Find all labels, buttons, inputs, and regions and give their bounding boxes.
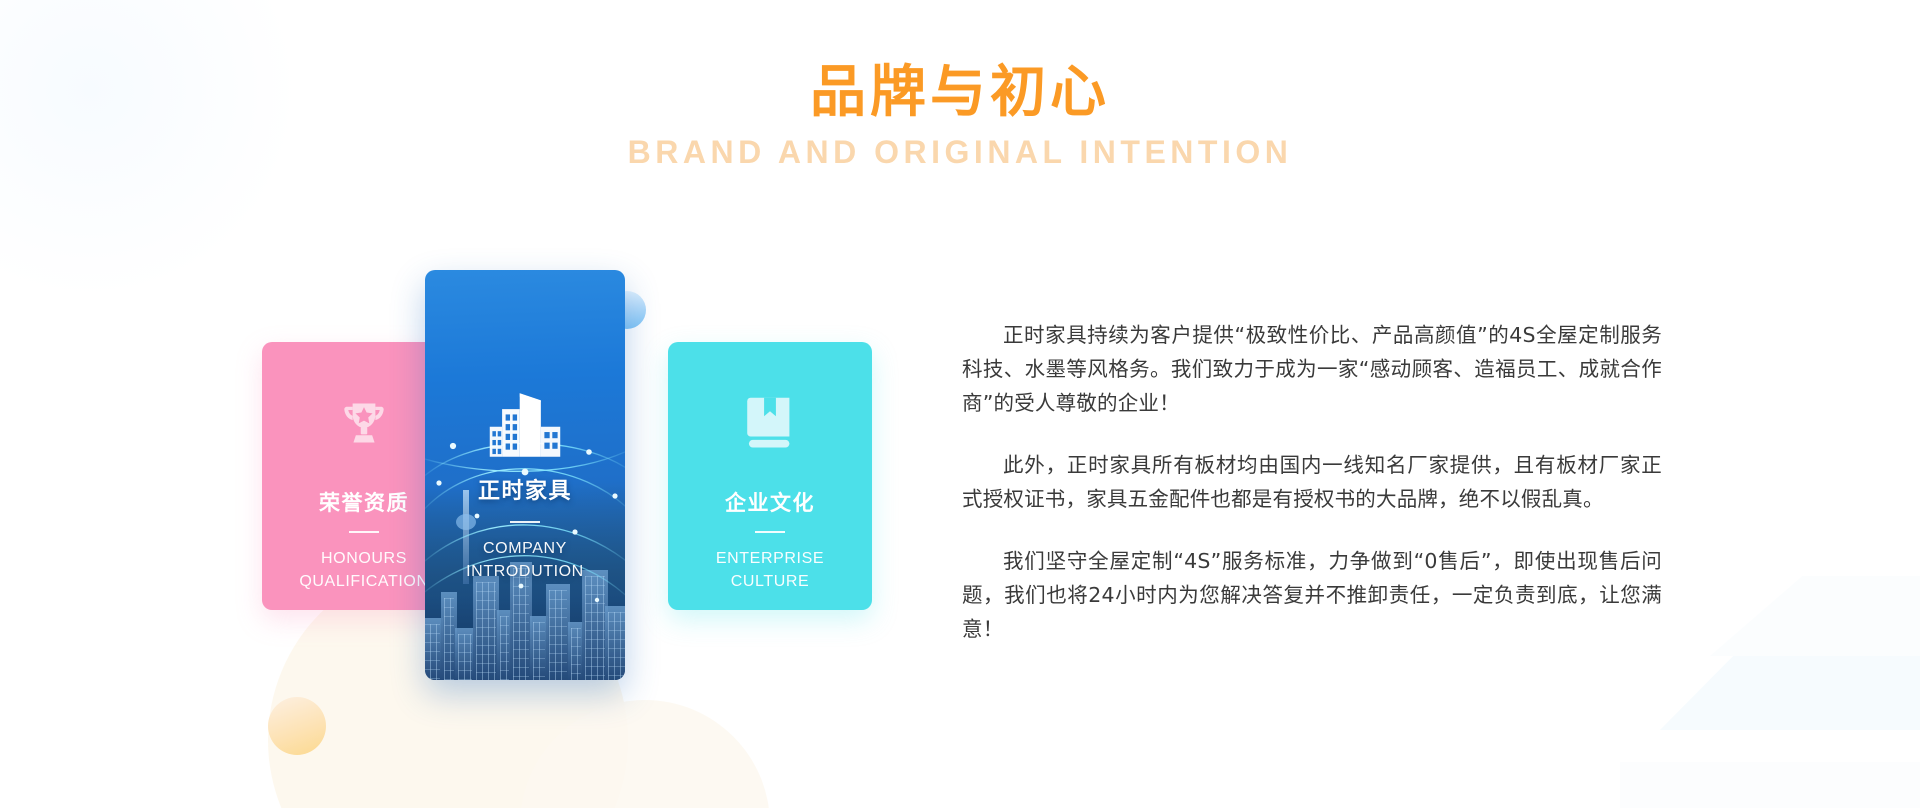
card-company-introduction[interactable]: 正时家具 COMPANYINTRODUTION [425,270,625,680]
card-title-cn: 荣誉资质 [319,490,409,517]
card-title-en: ENTERPRISECULTURE [716,547,824,593]
trophy-icon [327,386,401,460]
card-title-en-line1: ENTERPRISE [716,550,824,567]
section-heading: 品牌与初心 BRAND AND ORIGINAL INTENTION [0,62,1920,171]
book-icon [733,386,807,460]
card-title-en-line2: QUALIFICATION [299,573,428,590]
card-divider [349,531,379,533]
feature-card-group: 荣誉资质 HONOURSQUALIFICATION [262,270,872,700]
card-title-en: COMPANYINTRODUTION [466,537,584,583]
card-divider [755,531,785,533]
card-enterprise-culture[interactable]: 企业文化 ENTERPRISECULTURE [668,342,872,610]
page-title: 品牌与初心 [0,62,1920,125]
card-title-en-line2: CULTURE [731,573,810,590]
paragraph-2: 此外，正时家具所有板材均由国内一线知名厂家提供，且有板材厂家正式授权证书，家具五… [962,448,1662,516]
card-title-cn: 正时家具 [478,478,572,507]
paragraph-3: 我们坚守全屋定制“4S”服务标准，力争做到“0售后”，即使出现售后问题，我们也将… [962,544,1662,646]
card-title-en: HONOURSQUALIFICATION [299,547,428,593]
card-divider [510,521,540,523]
yellow-sphere-decoration [268,697,326,755]
page-subtitle: BRAND AND ORIGINAL INTENTION [0,133,1920,171]
card-title-en-line1: COMPANY [483,540,567,557]
card-title-en-line2: INTRODUTION [466,563,584,580]
brand-intention-section: 品牌与初心 BRAND AND ORIGINAL INTENTION 荣誉资质 [0,0,1920,808]
cream-circle-decoration-secondary [520,700,770,808]
card-title-en-line1: HONOURS [321,550,407,567]
bottom-right-wedge-decoration [1660,630,1920,730]
paragraph-1: 正时家具持续为客户提供“极致性价比、产品高颜值”的4S全屋定制服务科技、水墨等风… [962,318,1662,420]
company-description: 正时家具持续为客户提供“极致性价比、产品高颜值”的4S全屋定制服务科技、水墨等风… [962,318,1662,646]
bottom-right-wedge-decoration-secondary [1710,576,1920,656]
card-title-cn: 企业文化 [725,490,815,517]
bottom-right-bar-decoration [1620,762,1920,808]
buildings-icon [488,388,562,462]
